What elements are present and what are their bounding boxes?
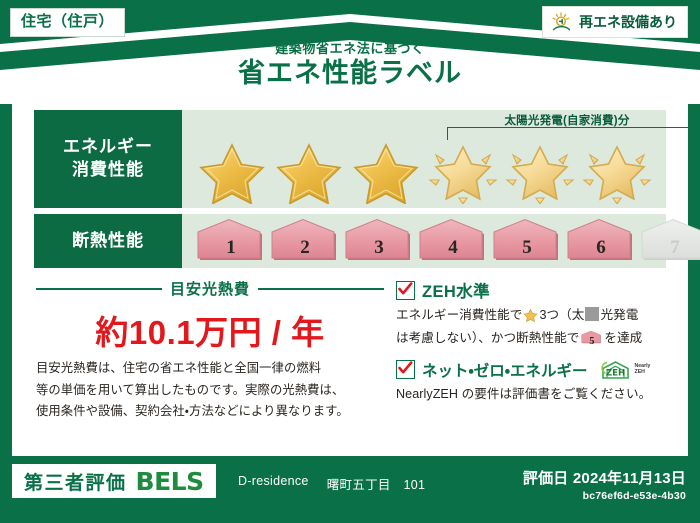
bels-certification-mark: 第三者評価 BELS [12,464,216,498]
insulation-performance-row: 断熱性能 [34,214,666,268]
insulation-grade-4-value: 4 [418,237,488,259]
checkmark-icon [396,360,415,379]
evaluation-info: 評価日 2024年11月13日 bc76ef6d-e53e-4b30 [523,467,686,502]
heading-rule-left [36,288,162,290]
housing-type-chip: 住宅（住戸） [10,8,125,37]
utility-cost-heading: 目安光熱費 [36,278,384,299]
insulation-grade-2-value: 2 [270,237,340,259]
zeh-body-line2b: を達成 [604,331,642,345]
title-block: 建築物省エネ法に基づく 省エネ性能ラベル [0,42,700,91]
solar-sun-icon [551,12,573,32]
utility-cost-value: 約10.1万円 / 年 [36,306,384,354]
zeh-logo: ZEH Nearly ZEH [599,360,651,380]
star-solar-4 [427,140,499,204]
zeh-body-stars: 3つ（太 [539,308,584,322]
disclaimer-line-1: 目安光熱費は、住宅の省エネ性能と全国一律の燃料 [36,358,388,380]
insulation-grade-6: 6 [566,218,636,264]
insulation-grade-6-value: 6 [566,237,636,259]
insulation-label-text: 断熱性能 [72,230,144,253]
insulation-grade-2: 2 [270,218,340,264]
star-filled-2 [273,140,345,204]
evaluation-date: 評価日 2024年11月13日 [523,467,686,488]
disclaimer-line-2: 等の単価を用いて算出したものです。実際の光熱費は、 [36,380,388,402]
insulation-grade-1-value: 1 [196,237,266,259]
claim-zeh-level-body: エネルギー消費性能で3つ（太光発電 は考慮しない）、かつ断熱性能で5を達成 [396,305,684,349]
property-identification: D-residence 曙町五丁目 101 [238,474,425,493]
claim-zeh-level: ZEH水準 エネルギー消費性能で3つ（太光発電 は考慮しない）、かつ断熱性能で5… [396,278,684,349]
title-subtitle: 建築物省エネ法に基づく [0,42,700,56]
disclaimer-line-3: 使用条件や設備、契約会社・方法などにより異なります。 [36,401,388,423]
insulation-grade-3-value: 3 [344,237,414,259]
star-filled-3 [350,140,422,204]
insulation-grade-7: 7 [640,218,700,264]
insulation-rating-area: 1 2 3 [182,214,666,268]
utility-cost-disclaimer: 目安光熱費は、住宅の省エネ性能と全国一律の燃料 等の単価を用いて算出したものです… [36,358,388,423]
insulation-grade-7-value: 7 [640,237,700,259]
insulation-performance-label: 断熱性能 [34,214,182,268]
bels-energy-performance-label: 住宅（住戸） 再エネ設備あり 建築物省エネ法に基づく 省エネ性能ラベル [0,0,700,523]
bels-logo-text: BELS [136,467,204,496]
inline-badge-value: 5 [581,333,602,350]
energy-rating-area: 太陽光発電(自家消費)分 [182,110,666,208]
zeh-body-line2a: は考慮しない）、かつ断熱性能で [396,331,579,345]
solar-generation-note: 太陽光発電(自家消費)分 [440,112,694,128]
building-name: D-residence [238,474,309,493]
energy-label-line2: 消費性能 [72,159,144,182]
renewable-equipment-badge: 再エネ設備あり [542,6,688,38]
insulation-grade-3: 3 [344,218,414,264]
energy-star-rating [196,140,653,204]
checkmark-icon [396,281,415,300]
claim-net-zero-title: ネット・ゼロ・エネルギー [422,359,588,381]
claim-zeh-level-header: ZEH水準 [396,278,684,302]
zeh-logo-subtext: Nearly ZEH [635,364,651,376]
insulation-grade-1: 1 [196,218,266,264]
insulation-grade-5: 5 [492,218,562,264]
footer: 第三者評価 BELS D-residence 曙町五丁目 101 評価日 202… [0,458,700,523]
estimated-utility-cost: 目安光熱費 約10.1万円 / 年 [36,278,384,354]
zeh-body-part2: 光発電 [600,308,638,322]
star-solar-5 [504,140,576,204]
insulation-grade-5-value: 5 [492,237,562,259]
heading-rule-right [258,288,384,290]
solar-range-bracket [447,127,689,140]
inline-insulation-badge-icon: 5 [581,329,602,346]
utility-cost-heading-text: 目安光熱費 [170,278,250,299]
zeh-body-part1: エネルギー消費性能で [396,308,522,322]
svg-text:ZEH: ZEH [605,368,624,378]
energy-label-line1: エネルギー [63,136,153,159]
claim-net-zero-header: ネット・ゼロ・エネルギー ZEH Nearly ZEH [396,359,684,381]
evaluation-id: bc76ef6d-e53e-4b30 [523,490,686,502]
zeh-sub-line2: ZEH [635,369,645,375]
claim-net-zero-body: NearlyZEH の要件は評価書をご覧ください。 [396,384,684,404]
energy-performance-label: エネルギー 消費性能 [34,110,182,208]
certification-claims: ZEH水準 エネルギー消費性能で3つ（太光発電 は考慮しない）、かつ断熱性能で5… [396,278,684,414]
energy-performance-row: エネルギー 消費性能 太陽光発電(自家消費)分 [34,110,666,208]
building-address: 曙町五丁目 101 [327,474,426,493]
insulation-grade-4: 4 [418,218,488,264]
page-title: 省エネ性能ラベル [0,57,700,91]
label-card: エネルギー 消費性能 太陽光発電(自家消費)分 [12,96,688,456]
bels-japanese-label: 第三者評価 [24,468,127,495]
inline-star-icon [523,311,538,325]
insulation-grade-list: 1 2 3 [196,218,700,264]
star-filled-1 [196,140,268,204]
star-solar-6 [581,140,653,204]
claim-net-zero-energy: ネット・ゼロ・エネルギー ZEH Nearly ZEH [396,359,684,404]
obscured-character-block [585,307,599,321]
renewable-badge-label: 再エネ設備あり [579,12,677,32]
claim-zeh-level-title: ZEH水準 [422,278,490,302]
